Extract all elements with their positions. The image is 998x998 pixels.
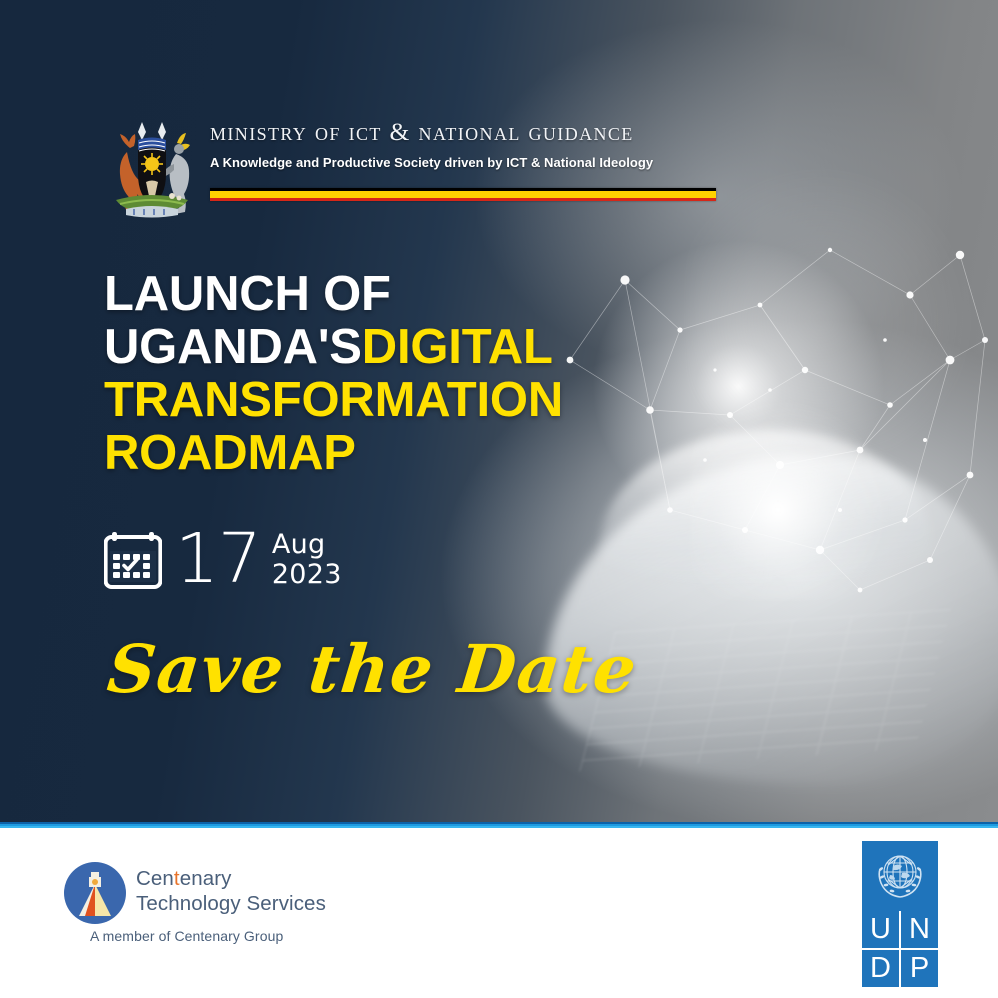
headline-line-4: ROADMAP: [104, 427, 664, 480]
hero-section: Ministry of ICT & National Guidance A Kn…: [0, 0, 998, 822]
undp-letter-n: N: [901, 911, 938, 948]
undp-letter-p: P: [901, 950, 938, 987]
date-day: 17: [175, 528, 261, 591]
undp-logo: U N D P: [862, 841, 938, 987]
ministry-header: Ministry of ICT & National Guidance A Kn…: [100, 112, 740, 220]
event-headline: LAUNCH OF UGANDA'SDIGITAL TRANSFORMATION…: [104, 268, 664, 481]
undp-letter-grid: U N D P: [862, 911, 938, 987]
date-month: Aug: [272, 530, 342, 560]
partner-footer: Centenary Technology Services A member o…: [0, 828, 998, 998]
headline-line-2-white: UGANDA'S: [104, 320, 362, 374]
undp-letter-u: U: [862, 911, 899, 948]
centenary-name-line2: Technology Services: [136, 891, 326, 916]
centenary-name-part-b: enary: [180, 867, 232, 890]
headline-line-2-yellow: DIGITAL: [362, 320, 553, 374]
centenary-name-part-a: Cen: [136, 867, 174, 890]
event-date: 17 Aug 2023: [104, 528, 342, 591]
centenary-lighthouse-icon: [62, 860, 128, 926]
centenary-name: Centenary: [136, 866, 326, 891]
un-globe-laurel-icon: [862, 841, 938, 911]
save-the-date-poster: Ministry of ICT & National Guidance A Kn…: [0, 0, 998, 998]
centenary-logo: Centenary Technology Services A member o…: [62, 860, 326, 944]
ministry-title: Ministry of ICT & National Guidance: [210, 118, 730, 146]
undp-letter-d: D: [862, 950, 899, 987]
calendar-icon: [104, 530, 162, 590]
save-the-date-text: Save the Date: [104, 630, 641, 708]
uganda-flag-bar: [210, 188, 716, 201]
date-year: 2023: [272, 560, 342, 590]
centenary-tagline: A member of Centenary Group: [90, 928, 326, 944]
headline-line-1: LAUNCH OF: [104, 268, 664, 321]
uganda-coat-of-arms-icon: [100, 112, 204, 220]
headline-line-3: TRANSFORMATION: [104, 374, 664, 427]
ministry-tagline: A Knowledge and Productive Society drive…: [210, 155, 722, 170]
